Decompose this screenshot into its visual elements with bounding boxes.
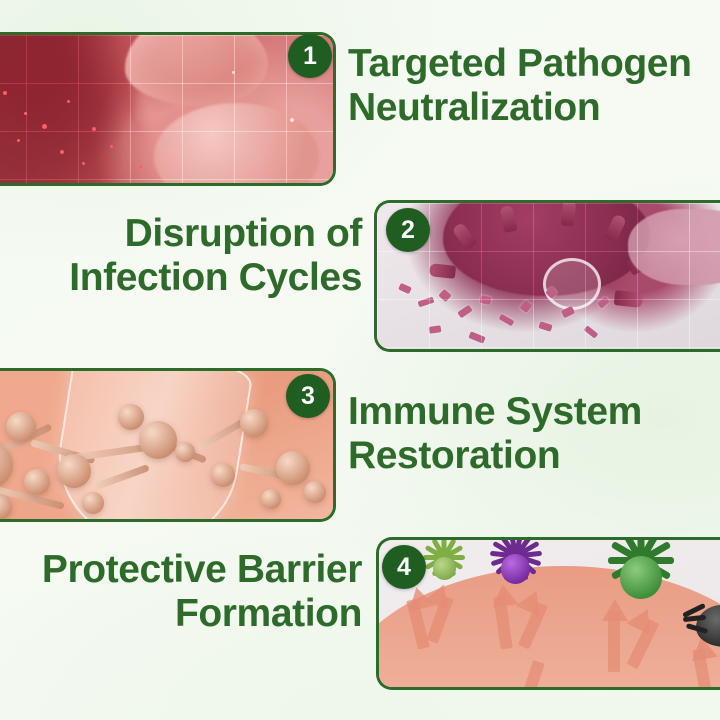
step-4-title: Protective Barrier Formation	[0, 548, 362, 636]
infographic-canvas: 1 Targeted Pathogen Neutralization	[0, 0, 720, 720]
step-1-number-badge: 1	[288, 34, 332, 78]
grid-overlay	[0, 35, 333, 183]
microbe-purple	[490, 543, 542, 595]
step-2-number-badge: 2	[386, 208, 430, 252]
barrier-dome-image	[379, 540, 720, 687]
molecules-shield-image	[0, 371, 333, 519]
microbe-green-small	[423, 547, 465, 589]
step-3-title: Immune System Restoration	[348, 390, 720, 478]
step-4-image-card[interactable]	[376, 537, 720, 690]
step-4-number-badge: 4	[382, 545, 426, 589]
microbe-green-large	[608, 544, 674, 610]
step-1-title: Targeted Pathogen Neutralization	[348, 42, 720, 130]
red-blood-cells-image	[0, 35, 333, 183]
step-3-number-badge: 3	[286, 374, 330, 418]
step-1-image-card[interactable]	[0, 32, 336, 186]
step-2-title: Disruption of Infection Cycles	[0, 212, 362, 300]
